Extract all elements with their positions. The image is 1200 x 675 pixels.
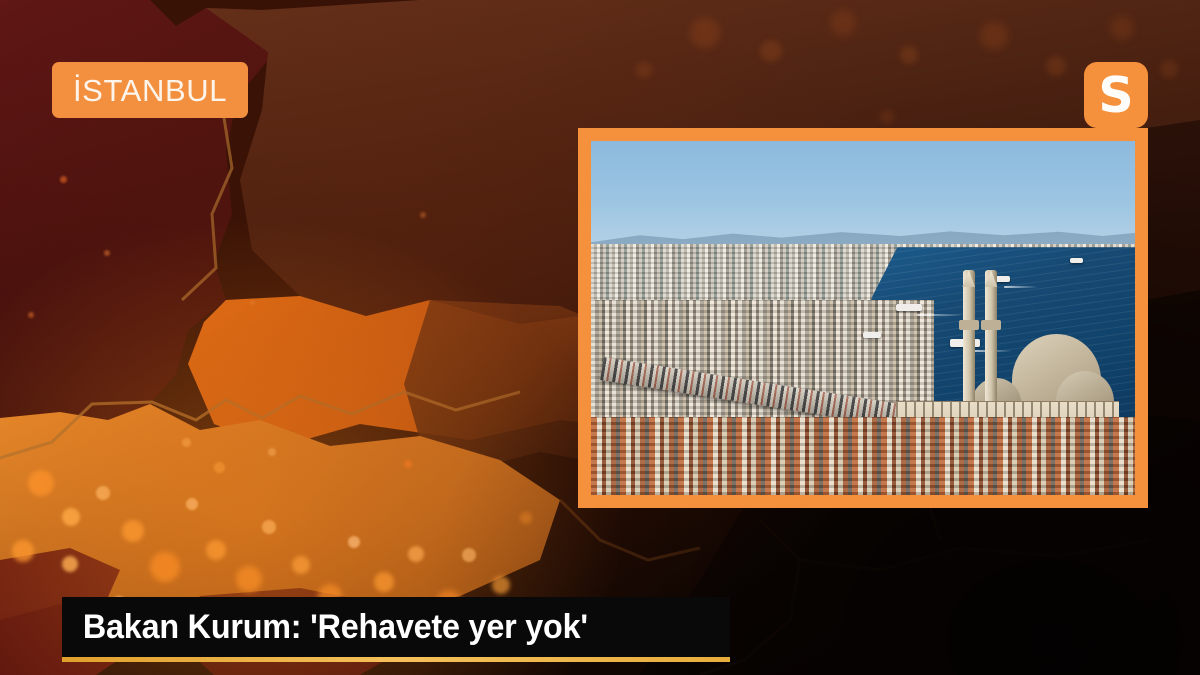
headline-strip: Bakan Kurum: 'Rehavete yer yok' [62,597,730,657]
photo-foreground-rooftops [591,417,1135,495]
brand-s-logo[interactable]: S [1084,62,1148,128]
photo-ferry-5 [863,332,881,338]
istanbul-photo [591,141,1135,495]
photo-frame [578,128,1148,508]
city-badge-label: İSTANBUL [73,75,227,106]
brand-logo-letter: S [1098,71,1133,120]
city-badge: İSTANBUL [52,62,248,118]
headline-underline [62,657,730,662]
news-card: İSTANBUL S [0,0,1200,675]
headline-text: Bakan Kurum: 'Rehavete yer yok' [62,608,588,647]
